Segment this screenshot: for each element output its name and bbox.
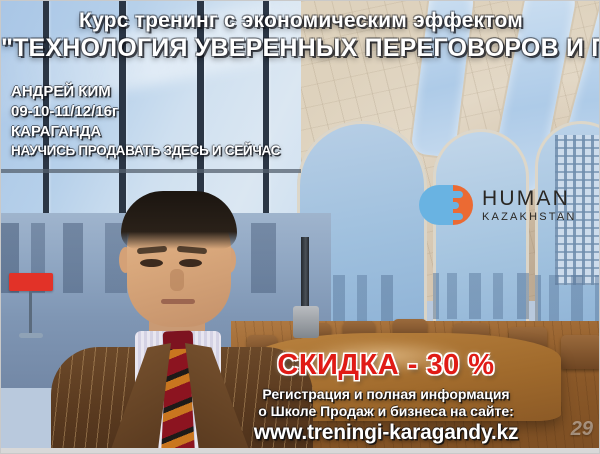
- skyline-silhouette: [433, 273, 529, 319]
- logo-wordmark: HUMAN KAZAKHSTAN: [482, 188, 577, 223]
- event-city: КАРАГАНДА: [11, 123, 280, 140]
- speaker-name: АНДРЕЙ КИМ: [11, 83, 280, 100]
- image-watermark: 29: [571, 418, 593, 441]
- billboard-pole: [29, 291, 32, 335]
- mouth: [161, 299, 195, 304]
- event-details-block: АНДРЕЙ КИМ 09-10-11/12/16г КАРАГАНДА НАУ…: [11, 83, 280, 161]
- website-url[interactable]: www.treningi-karagandy.kz: [86, 421, 600, 445]
- event-tagline: НАУЧИСЬ ПРОДАВАТЬ ЗДЕСЬ И СЕЙЧАС: [11, 143, 280, 158]
- event-dates: 09-10-11/12/16г: [11, 103, 280, 120]
- arch-window-2: [433, 129, 529, 329]
- headline-line-2: "ТЕХНОЛОГИЯ УВЕРЕННЫХ ПЕРЕГОВОРОВ И ПРОД…: [1, 34, 600, 63]
- logo-bar-bottom: [433, 213, 463, 220]
- logo-name: HUMAN: [482, 188, 577, 209]
- registration-line-1: Регистрация и полная информация: [86, 386, 600, 402]
- window-transom: [1, 169, 301, 173]
- promo-poster: Курс тренинг с экономическим эффектом "Т…: [0, 0, 600, 454]
- eye-right: [179, 259, 202, 267]
- billboard-base: [19, 333, 43, 338]
- eye-left: [140, 259, 163, 267]
- registration-line-2: о Школе Продаж и бизнеса на сайте:: [86, 403, 600, 419]
- hair: [121, 191, 237, 249]
- logo-subtitle: KAZAKHSTAN: [482, 212, 577, 223]
- headline-line-1: Курс тренинг с экономическим эффектом: [1, 9, 600, 33]
- red-billboard: [9, 273, 53, 291]
- arch-window-3: [535, 121, 599, 331]
- logo-bar-middle: [433, 202, 459, 209]
- human-logo-mark-icon: [419, 185, 473, 225]
- skyline-silhouette: [535, 275, 599, 321]
- bottom-border: [1, 448, 600, 453]
- logo-bar-top: [433, 191, 463, 198]
- discount-banner: СКИДКА - 30 %: [86, 349, 600, 382]
- human-kazakhstan-logo: HUMAN KAZAKHSTAN: [419, 185, 577, 225]
- nose: [170, 269, 184, 291]
